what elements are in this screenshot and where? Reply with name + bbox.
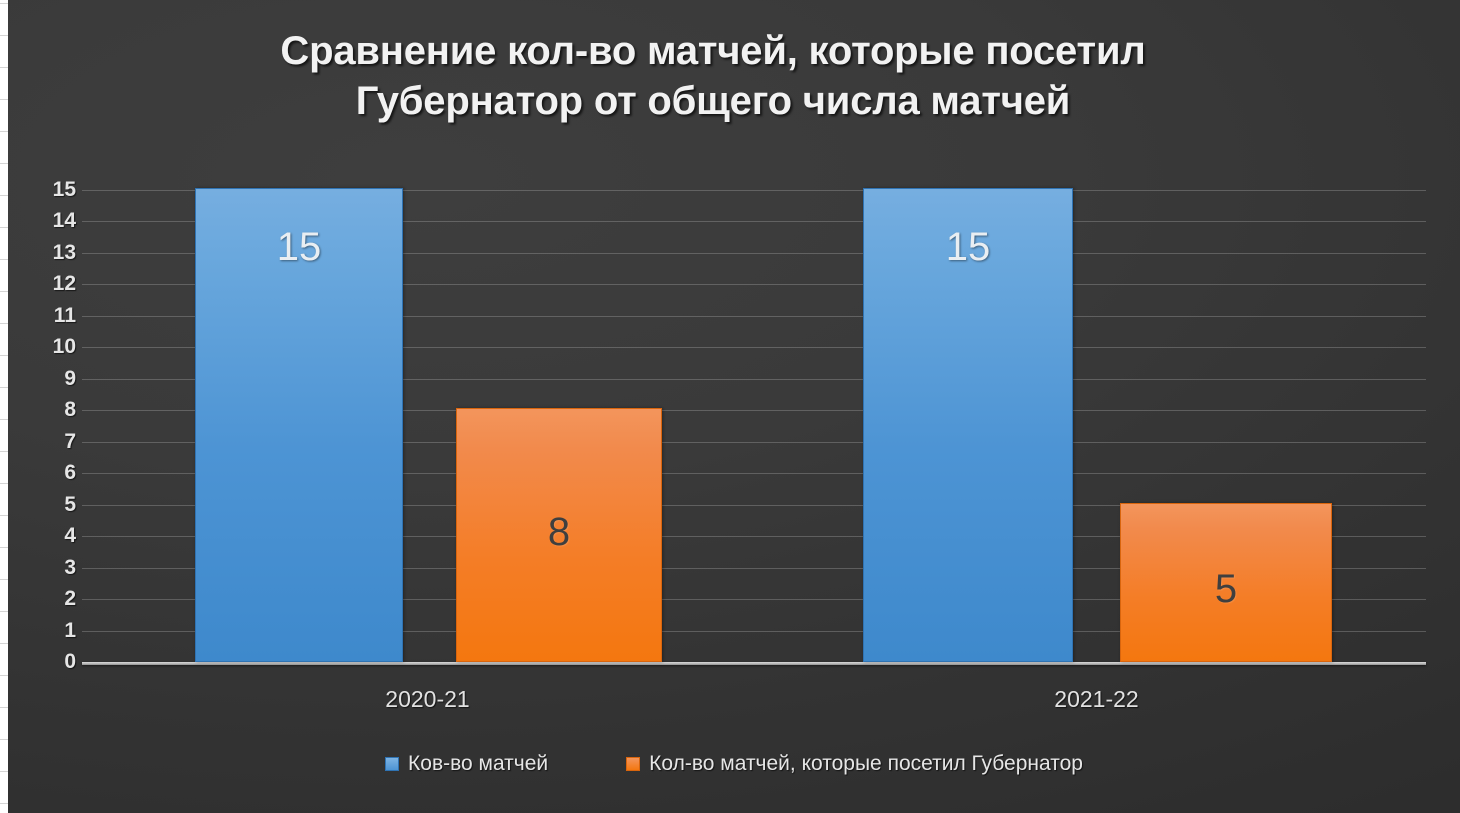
y-axis-tick-7: 7 — [24, 430, 76, 454]
bar-2021-22-series0[interactable]: 15 — [863, 188, 1073, 662]
legend-label-total-matches: Ков-во матчей — [408, 752, 548, 776]
legend-swatch-orange-icon — [626, 757, 640, 771]
y-axis-tick-13: 13 — [24, 241, 76, 265]
y-axis-tick-8: 8 — [24, 398, 76, 422]
chart-screenshot: Сравнение кол-во матчей, которые посетил… — [0, 0, 1460, 813]
chart-legend: Ков-во матчей Кол-во матчей, которые пос… — [8, 752, 1460, 776]
y-axis-tick-11: 11 — [24, 304, 76, 328]
y-axis-tick-3: 3 — [24, 556, 76, 580]
y-axis-tick-4: 4 — [24, 524, 76, 548]
y-axis-tick-5: 5 — [24, 493, 76, 517]
chart-title: Сравнение кол-во матчей, которые посетил… — [68, 26, 1358, 127]
y-axis-tick-14: 14 — [24, 209, 76, 233]
bar-2021-22-series1[interactable]: 5 — [1120, 503, 1332, 662]
legend-item-governor-matches[interactable]: Кол-во матчей, которые посетил Губернато… — [626, 752, 1083, 776]
y-axis-tick-6: 6 — [24, 461, 76, 485]
y-axis-tick-12: 12 — [24, 272, 76, 296]
legend-item-total-matches[interactable]: Ков-во матчей — [385, 752, 548, 776]
y-axis-tick-9: 9 — [24, 367, 76, 391]
bar-2020-21-series1[interactable]: 8 — [456, 408, 662, 662]
legend-label-governor-matches: Кол-во матчей, которые посетил Губернато… — [649, 752, 1083, 776]
spreadsheet-edge-strip — [0, 0, 8, 813]
plot-area: 158155 — [82, 192, 1426, 664]
x-axis-baseline — [82, 662, 1426, 665]
legend-swatch-blue-icon — [385, 757, 399, 771]
bar-value-label: 15 — [864, 225, 1072, 270]
bar-value-label: 15 — [196, 225, 402, 270]
y-axis-tick-2: 2 — [24, 587, 76, 611]
y-axis-tick-15: 15 — [24, 178, 76, 202]
y-axis-tick-labels: 1514131211109876543210 — [16, 192, 76, 664]
y-axis-tick-0: 0 — [24, 650, 76, 674]
y-axis-tick-1: 1 — [24, 619, 76, 643]
bar-value-label: 8 — [457, 510, 661, 555]
category-label-0: 2020-21 — [195, 686, 660, 713]
chart-plot-object[interactable]: Сравнение кол-во матчей, которые посетил… — [8, 0, 1460, 813]
y-axis-tick-10: 10 — [24, 335, 76, 359]
bar-2020-21-series0[interactable]: 15 — [195, 188, 403, 662]
category-label-1: 2021-22 — [863, 686, 1330, 713]
bar-value-label: 5 — [1121, 567, 1331, 612]
